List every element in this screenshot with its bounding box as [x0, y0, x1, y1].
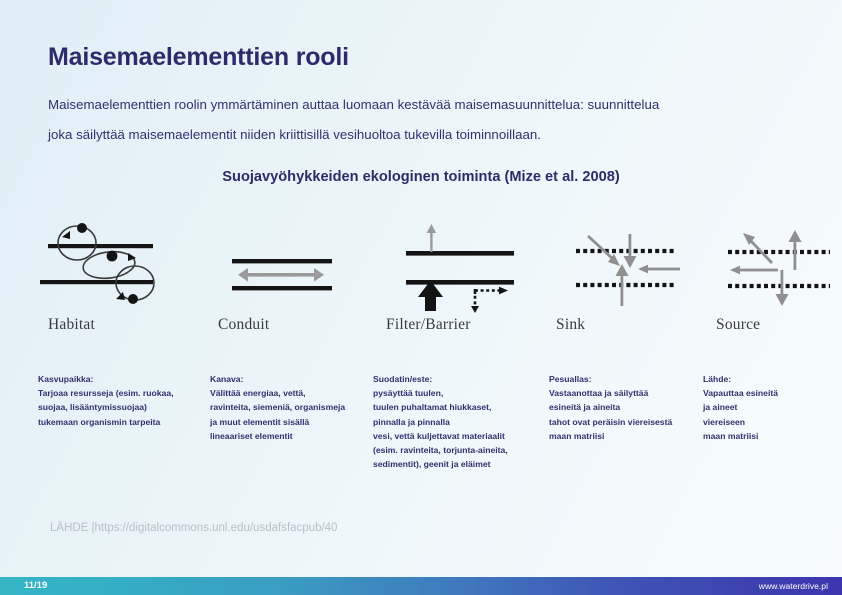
source-reference: LÄHDE |https://digitalcommons.unl.edu/us…: [50, 522, 337, 534]
filter-barrier-arrows-icon: [378, 218, 538, 313]
caption-line: tahot ovat peräisin viereisestä: [549, 415, 704, 429]
caption-line: Välittää energiaa, vettä,: [210, 386, 370, 400]
caption-line: tuulen puhaltamat hiukkaset,: [373, 400, 545, 414]
caption-suodatin-este: Suodatin/este: pysäyttää tuulen, tuulen …: [373, 372, 545, 471]
caption-row: Kasvupaikka: Tarjoaa resursseja (esim. r…: [38, 372, 838, 482]
caption-pesuallas: Pesuallas: Vastaanottaa ja säilyttää esi…: [549, 372, 704, 443]
caption-heading: Pesuallas:: [549, 372, 704, 386]
ecological-functions-figure: Habitat Conduit: [40, 218, 840, 348]
caption-heading: Lähde:: [703, 372, 842, 386]
caption-kasvupaikka: Kasvupaikka: Tarjoaa resursseja (esim. r…: [38, 372, 208, 429]
caption-line: lineaariset elementit: [210, 429, 370, 443]
figure-column-filter-barrier: Filter/Barrier: [378, 218, 538, 348]
caption-line: Tarjoaa resursseja (esim. ruokaa,: [38, 386, 208, 400]
conduit-double-arrow-icon: [210, 218, 370, 313]
caption-lahde: Lähde: Vapauttaa esineitä ja aineet vier…: [703, 372, 842, 443]
caption-heading: Kasvupaikka:: [38, 372, 208, 386]
caption-line: suojaa, lisääntymissuojaa): [38, 400, 208, 414]
figure-label-source: Source: [716, 316, 760, 334]
figure-column-sink: Sink: [548, 218, 708, 348]
caption-line: tukemaan organismin tarpeita: [38, 415, 208, 429]
footer-bar: 11/19 www.waterdrive.pl: [0, 577, 842, 595]
caption-heading: Suodatin/este:: [373, 372, 545, 386]
caption-heading: Kanava:: [210, 372, 370, 386]
caption-line: maan matriisi: [703, 429, 842, 443]
caption-line: sedimentit), geenit ja eläimet: [373, 457, 545, 471]
page-title: Maisemaelementtien rooli: [48, 43, 349, 72]
figure-label-conduit: Conduit: [218, 316, 269, 334]
intro-paragraph: Maisemaelementtien roolin ymmärtäminen a…: [48, 90, 728, 150]
slide-canvas: Maisemaelementtien rooli Maisemaelementt…: [0, 0, 842, 595]
section-heading: Suojavyöhykkeiden ekologinen toiminta (M…: [0, 169, 842, 185]
page-number: 11/19: [24, 580, 47, 591]
intro-line-1: Maisemaelementtien roolin ymmärtäminen a…: [48, 90, 728, 120]
figure-label-filter-barrier: Filter/Barrier: [386, 316, 471, 334]
figure-column-conduit: Conduit: [210, 218, 370, 348]
caption-line: (esim. ravinteita, torjunta-aineita,: [373, 443, 545, 457]
caption-line: ravinteita, siemeniä, organismeja: [210, 400, 370, 414]
caption-line: pysäyttää tuulen,: [373, 386, 545, 400]
figure-label-habitat: Habitat: [48, 316, 95, 334]
caption-line: pinnalla ja pinnalla: [373, 415, 545, 429]
caption-line: vesi, vettä kuljettavat materiaalit: [373, 429, 545, 443]
figure-column-habitat: Habitat: [40, 218, 200, 348]
caption-line: ja muut elementit sisällä: [210, 415, 370, 429]
figure-column-source: Source: [708, 218, 842, 348]
figure-label-sink: Sink: [556, 316, 585, 334]
source-outward-arrows-icon: [708, 218, 842, 313]
footer-url[interactable]: www.waterdrive.pl: [759, 581, 828, 591]
sink-inward-arrows-icon: [548, 218, 708, 313]
caption-line: esineitä ja aineita: [549, 400, 704, 414]
caption-line: maan matriisi: [549, 429, 704, 443]
intro-line-2: joka säilyttää maisemaelementit niiden k…: [48, 120, 728, 150]
caption-line: Vapauttaa esineitä: [703, 386, 842, 400]
habitat-loops-icon: [40, 218, 200, 313]
caption-line: Vastaanottaa ja säilyttää: [549, 386, 704, 400]
caption-kanava: Kanava: Välittää energiaa, vettä, ravint…: [210, 372, 370, 443]
caption-line: ja aineet: [703, 400, 842, 414]
caption-line: viereiseen: [703, 415, 842, 429]
